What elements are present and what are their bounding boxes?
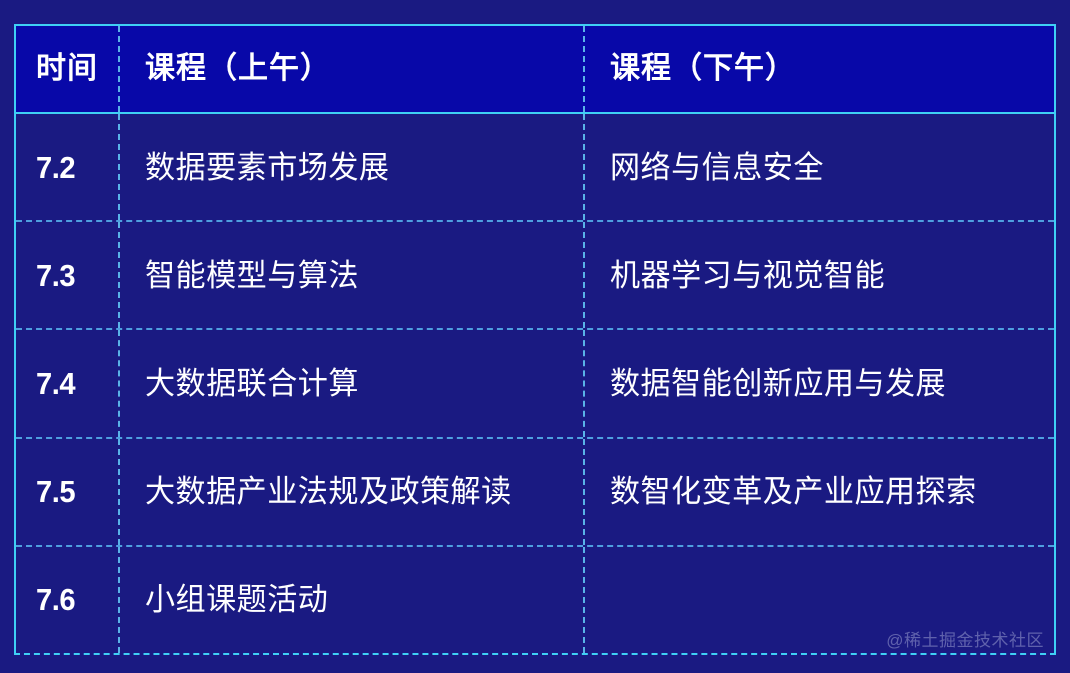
morning-course-label: 小组课题活动 (145, 584, 328, 615)
cell-afternoon-course: 数据智能创新应用与发展 (585, 330, 1054, 436)
cell-afternoon-course: 机器学习与视觉智能 (585, 222, 1054, 328)
cell-morning-course: 大数据产业法规及政策解读 (120, 439, 585, 545)
morning-course-label: 智能模型与算法 (145, 260, 359, 291)
cell-morning-course: 数据要素市场发展 (120, 114, 585, 220)
table-row: 7.3 智能模型与算法 机器学习与视觉智能 (16, 222, 1054, 330)
cell-morning-course: 小组课题活动 (120, 547, 585, 653)
header-cell-time: 时间 (16, 26, 120, 112)
morning-course-label: 大数据联合计算 (145, 368, 359, 399)
cell-date: 7.4 (16, 330, 120, 436)
table-header-row: 时间 课程（上午） 课程（下午） (16, 26, 1054, 114)
header-cell-afternoon: 课程（下午） (585, 26, 1054, 112)
morning-course-label: 数据要素市场发展 (145, 152, 389, 183)
date-label: 7.3 (36, 260, 75, 291)
table-body: 7.2 数据要素市场发展 网络与信息安全 7.3 智能模型与算法 机器学习与视觉… (16, 114, 1054, 653)
schedule-table: 时间 课程（上午） 课程（下午） 7.2 数据要素市场发展 网络与信息安全 7.… (14, 24, 1056, 655)
afternoon-course-label: 机器学习与视觉智能 (610, 260, 885, 291)
afternoon-course-label: 数智化变革及产业应用探索 (610, 476, 977, 507)
table-row: 7.4 大数据联合计算 数据智能创新应用与发展 (16, 330, 1054, 438)
date-label: 7.5 (36, 476, 75, 507)
afternoon-course-label: 网络与信息安全 (610, 152, 824, 183)
header-label-time: 时间 (36, 54, 98, 84)
date-label: 7.6 (36, 584, 75, 615)
table-row: 7.5 大数据产业法规及政策解读 数智化变革及产业应用探索 (16, 439, 1054, 547)
cell-date: 7.3 (16, 222, 120, 328)
cell-afternoon-course: 数智化变革及产业应用探索 (585, 439, 1054, 545)
date-label: 7.4 (36, 368, 75, 399)
header-cell-morning: 课程（上午） (120, 26, 585, 112)
table-row: 7.2 数据要素市场发展 网络与信息安全 (16, 114, 1054, 222)
cell-morning-course: 智能模型与算法 (120, 222, 585, 328)
cell-afternoon-course (585, 547, 1054, 653)
header-label-morning: 课程（上午） (145, 54, 331, 84)
cell-morning-course: 大数据联合计算 (120, 330, 585, 436)
morning-course-label: 大数据产业法规及政策解读 (145, 476, 512, 507)
cell-afternoon-course: 网络与信息安全 (585, 114, 1054, 220)
cell-date: 7.6 (16, 547, 120, 653)
cell-date: 7.2 (16, 114, 120, 220)
cell-date: 7.5 (16, 439, 120, 545)
header-label-afternoon: 课程（下午） (610, 54, 796, 84)
afternoon-course-label: 数据智能创新应用与发展 (610, 368, 946, 399)
table-row: 7.6 小组课题活动 (16, 547, 1054, 653)
date-label: 7.2 (36, 152, 75, 183)
